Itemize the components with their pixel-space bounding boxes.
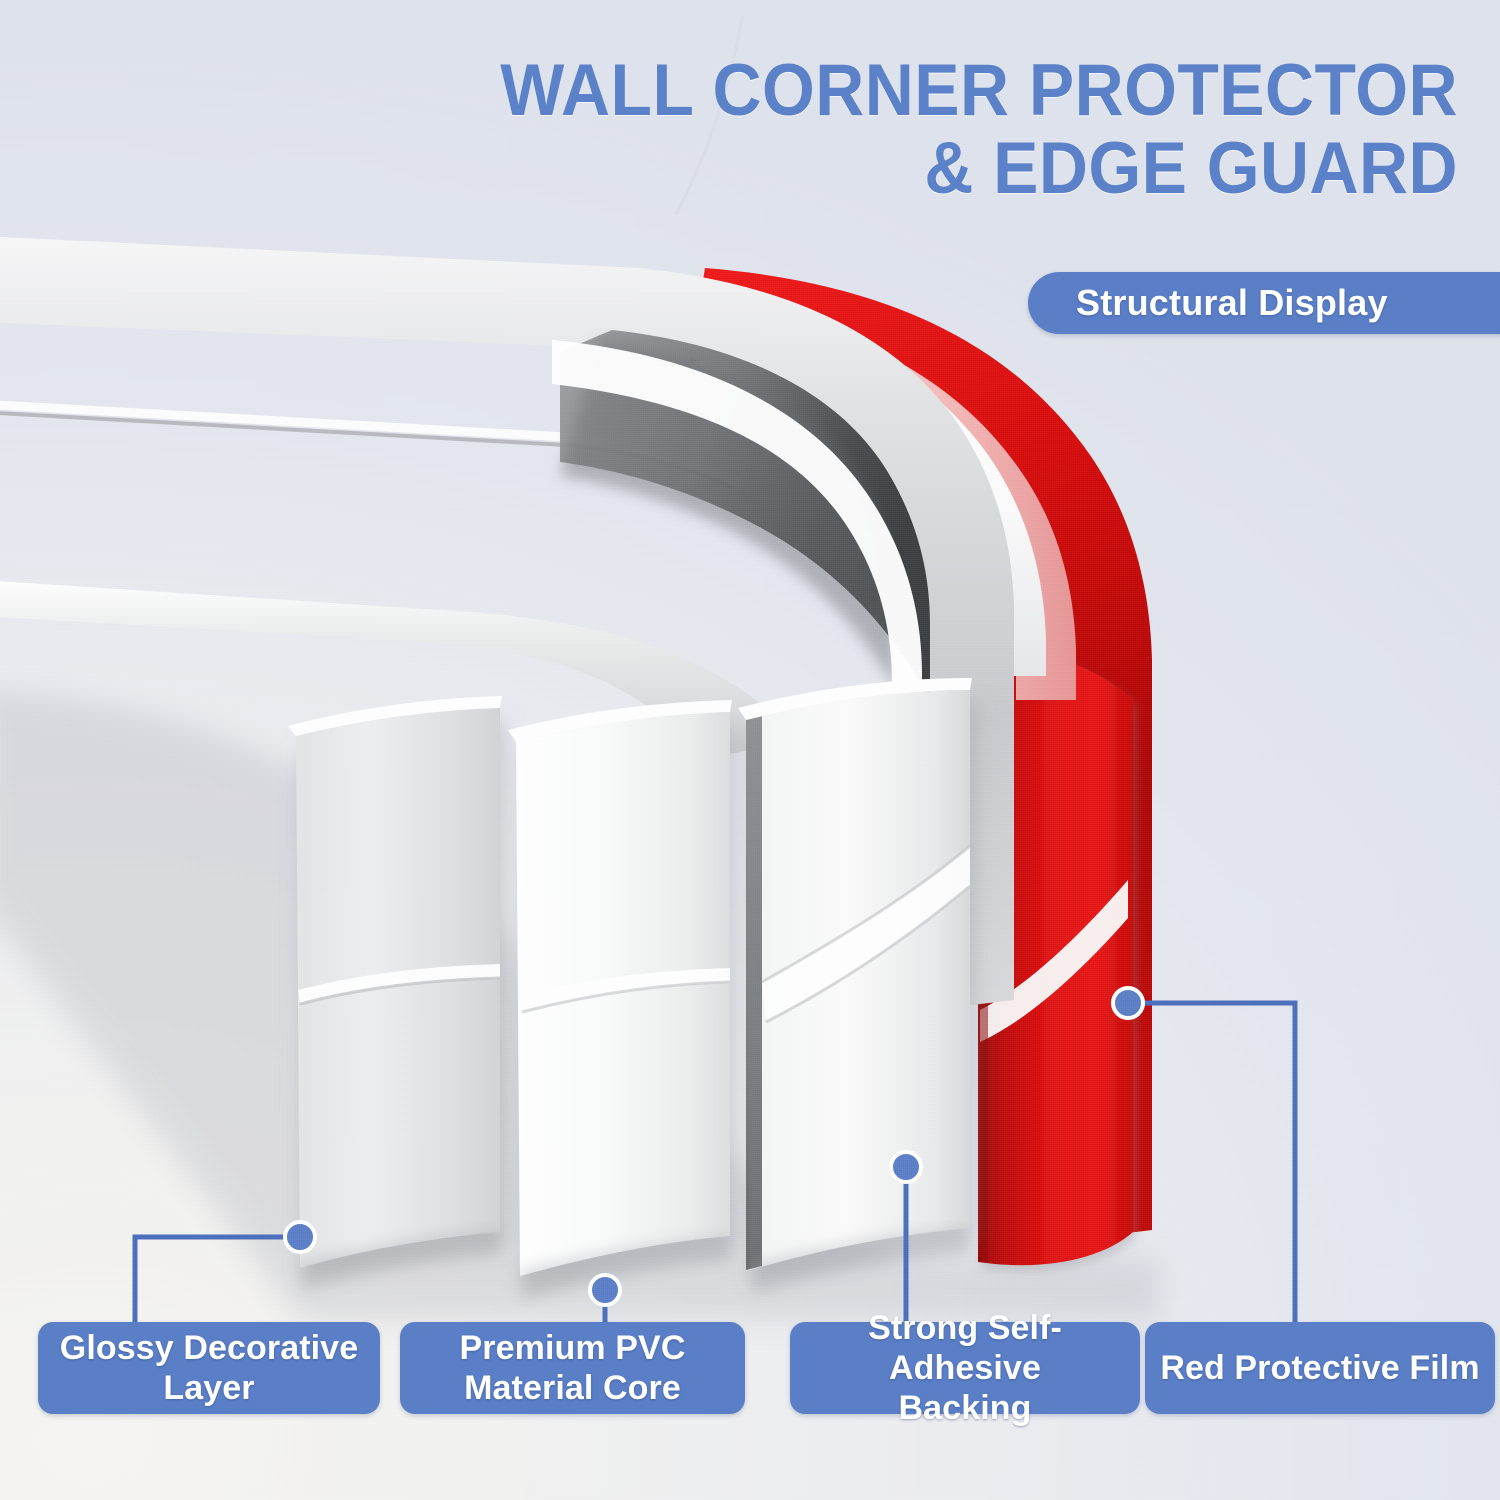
corner-guard-illustration xyxy=(0,0,1500,1500)
callout-label-text: Strong Self-Adhesive Backing xyxy=(802,1308,1128,1428)
page-title-line-2: & EDGE GUARD xyxy=(305,130,1458,208)
callout-label-text: Glossy Decorative Layer xyxy=(60,1328,358,1408)
callout-label-text: Premium PVC Material Core xyxy=(460,1328,686,1408)
callout-label-premium-pvc-material-core: Premium PVC Material Core xyxy=(400,1322,745,1414)
structural-display-badge-label: Structural Display xyxy=(1076,282,1388,324)
page-title-line-1: WALL CORNER PROTECTOR xyxy=(305,52,1458,130)
callout-label-glossy-decorative-layer: Glossy Decorative Layer xyxy=(38,1322,380,1414)
structural-display-badge: Structural Display xyxy=(1028,272,1500,334)
page-title: WALL CORNER PROTECTOR & EDGE GUARD xyxy=(305,52,1458,208)
callout-label-red-protective-film: Red Protective Film xyxy=(1145,1322,1495,1414)
callout-label-text: Red Protective Film xyxy=(1160,1348,1479,1388)
product-infographic: WALL CORNER PROTECTOR & EDGE GUARD Struc… xyxy=(0,0,1500,1500)
callout-label-strong-self-adhesive-backing: Strong Self-Adhesive Backing xyxy=(790,1322,1140,1414)
